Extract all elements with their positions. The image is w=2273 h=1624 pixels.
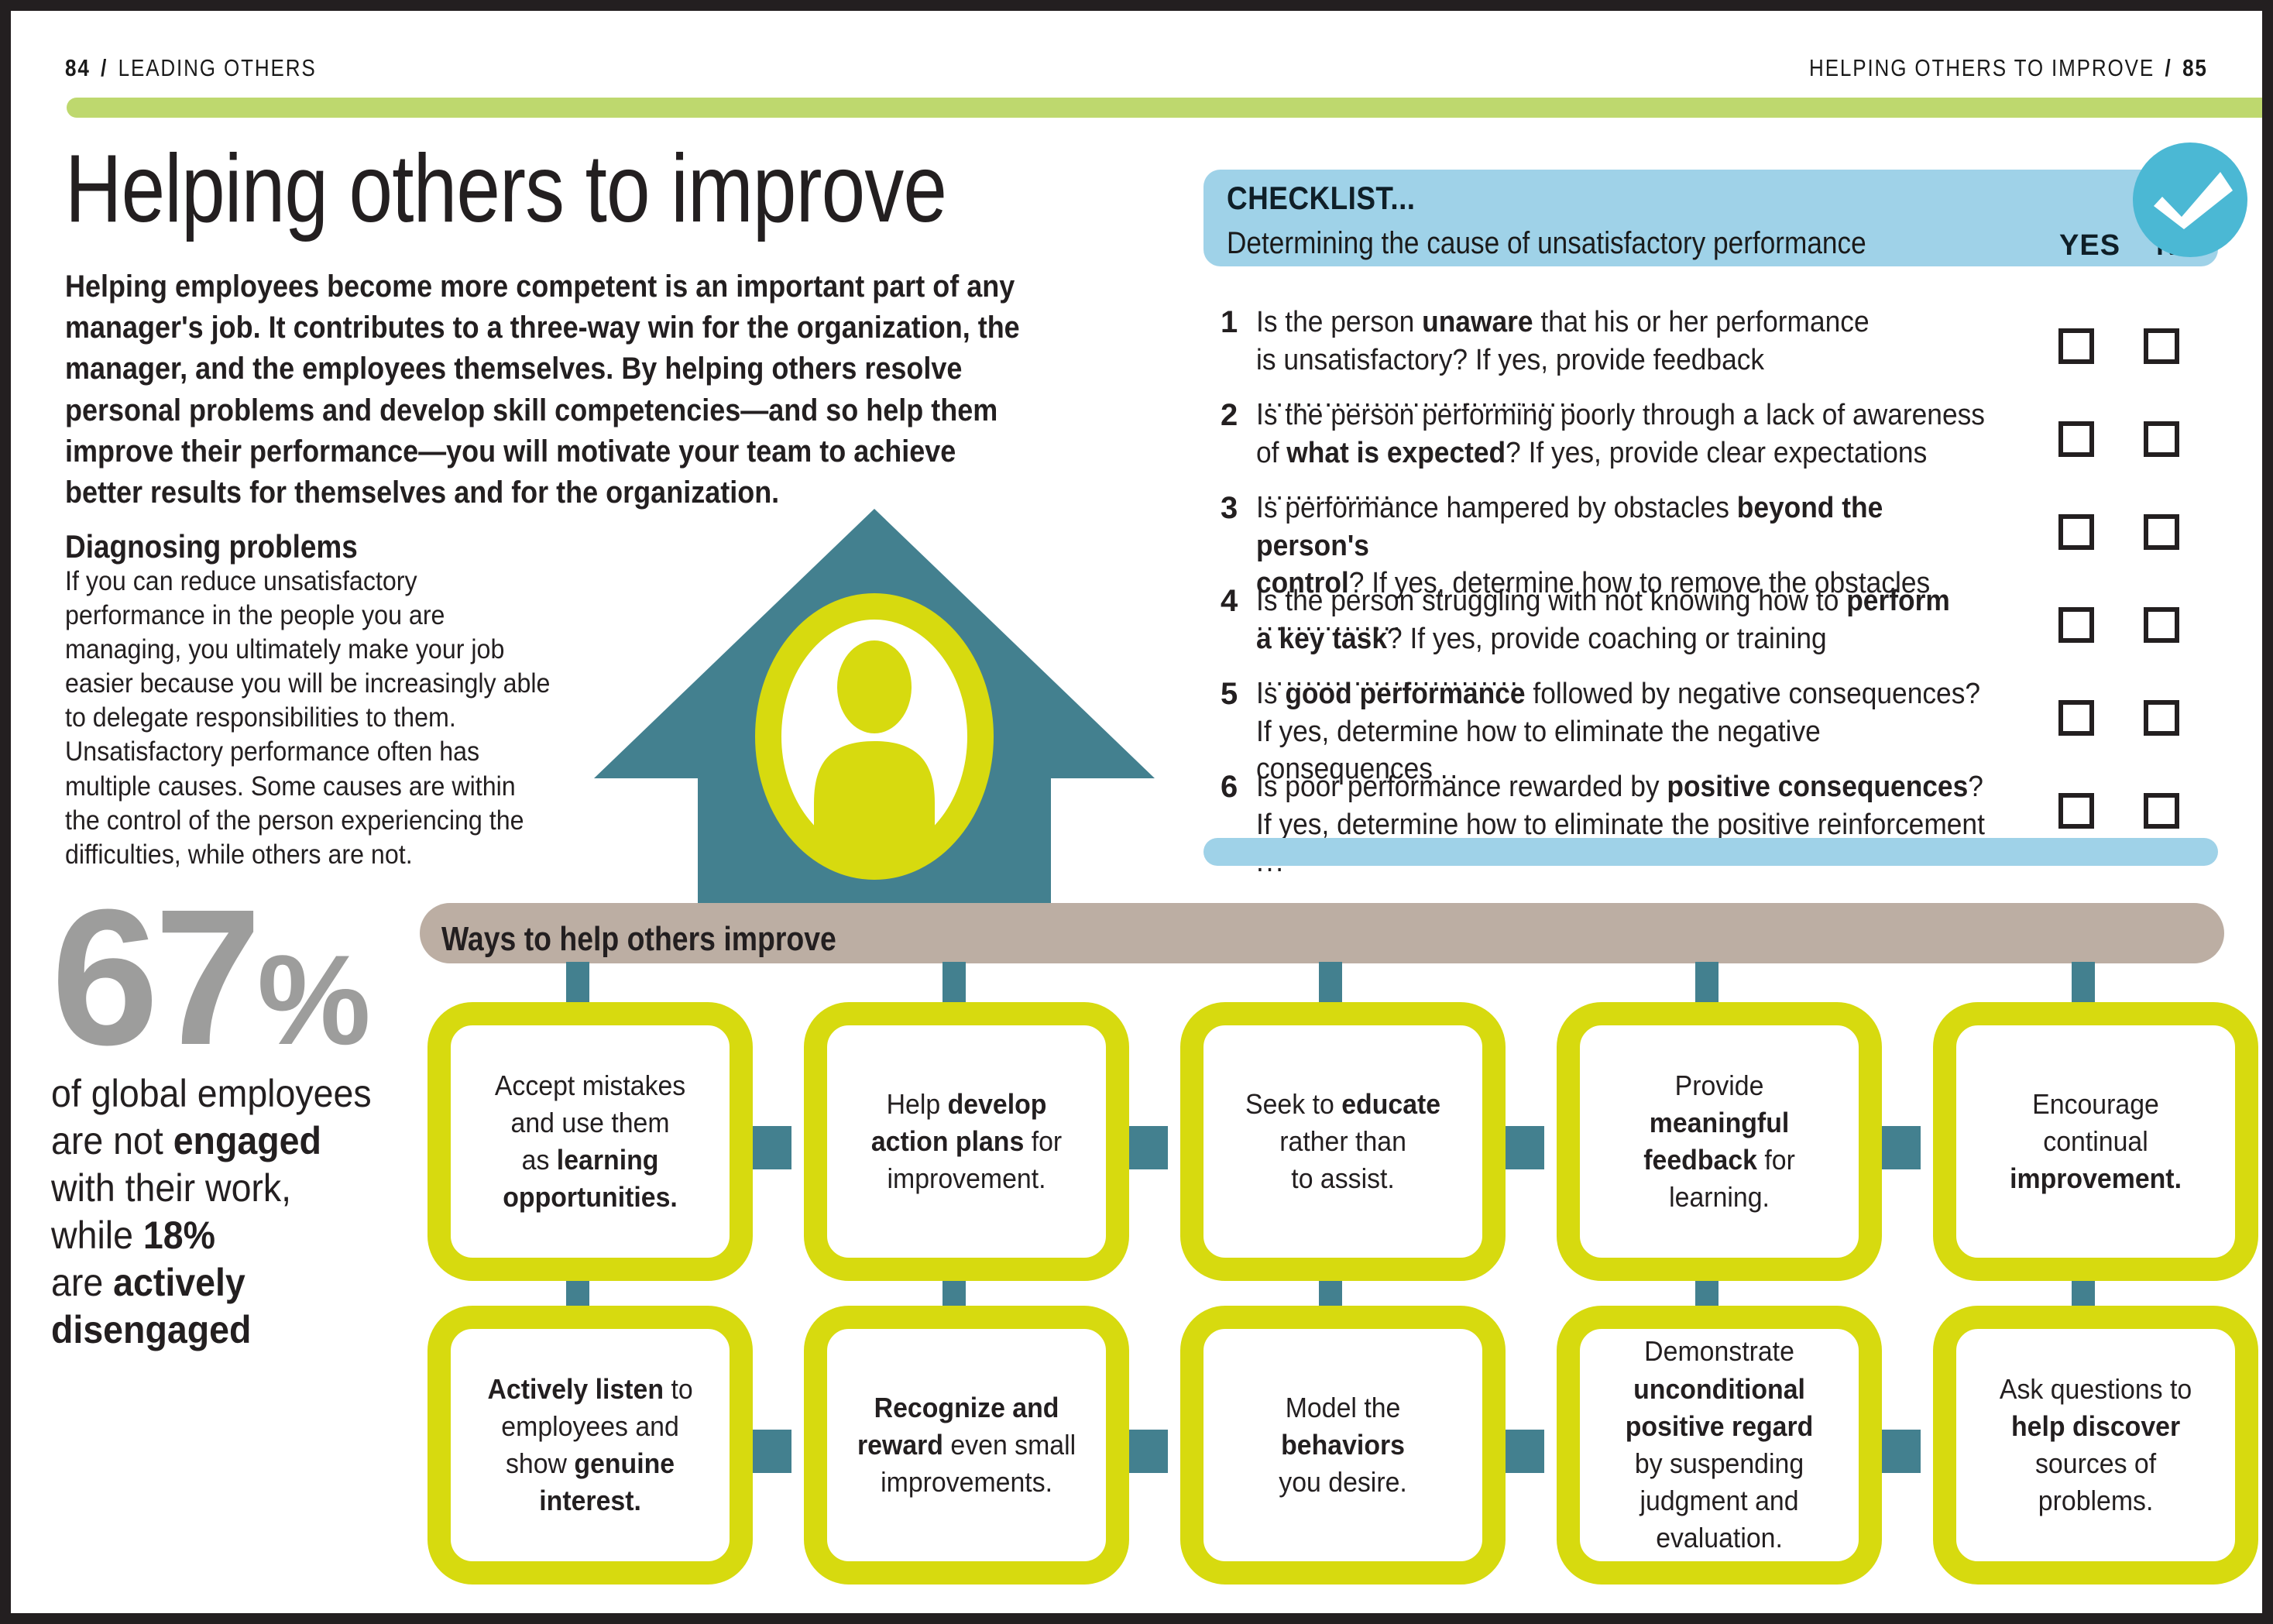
c5-cb: improvement. <box>2010 1162 2182 1194</box>
c2-bb: action plans <box>871 1125 1024 1157</box>
statistic-block: 67% of global employees are not engaged … <box>51 898 454 1354</box>
way-card-text: Help develop action plans for improvemen… <box>871 1086 1062 1198</box>
checkbox-yes[interactable] <box>2058 421 2094 457</box>
c7-bb: reward <box>857 1429 943 1461</box>
c2-ab: develop <box>948 1088 1047 1120</box>
c8-bb: behaviors <box>1281 1429 1405 1461</box>
running-head-left: 84/LEADING OTHERS <box>65 54 317 82</box>
connector-bar-to-card-4 <box>1695 962 1718 1008</box>
checklist-item-number: 2 <box>1221 398 1252 433</box>
c3-b: rather than <box>1279 1125 1406 1157</box>
stat-line-2a: are not <box>51 1119 173 1162</box>
slash-right: / <box>2155 54 2182 81</box>
c3-c: to assist. <box>1291 1162 1395 1194</box>
c6-ac: to <box>664 1373 693 1405</box>
chapter-title-right: HELPING OTHERS TO IMPROVE <box>1809 54 2155 81</box>
c6-b: employees and <box>501 1410 679 1442</box>
upward-arrow-person-illustration <box>588 503 1161 909</box>
checkbox-no[interactable] <box>2144 700 2179 736</box>
checkbox-no[interactable] <box>2144 421 2179 457</box>
c1-db: opportunities. <box>503 1181 678 1213</box>
connector-bar-to-card-2 <box>943 962 966 1008</box>
checklist-item-number: 3 <box>1221 491 1252 526</box>
way-card[interactable]: Seek to educate rather than to assist. <box>1180 1002 1506 1281</box>
cl-2-l1a: Is the person performing poorly through … <box>1256 399 1985 431</box>
folio-left: 84 <box>65 54 91 81</box>
connector-bar-to-card-1 <box>566 962 589 1008</box>
checklist-footer-bar <box>1203 838 2218 866</box>
cl-3-l1a: Is performance hampered by obstacles <box>1256 492 1737 524</box>
c4-cb: feedback <box>1643 1144 1757 1176</box>
checklist-item: 2 Is the person performing poorly throug… <box>1221 397 2227 489</box>
cl-5-l1a: Is <box>1256 678 1285 710</box>
page-title: Helping others to improve <box>65 141 946 237</box>
c9-a: Demonstrate <box>1644 1335 1794 1367</box>
c9-e: judgment and <box>1640 1485 1798 1516</box>
way-card[interactable]: Accept mistakes and use them as learning… <box>427 1002 753 1281</box>
stat-line-4a: while <box>51 1214 143 1257</box>
checklist-title: CHECKLIST... <box>1227 180 1415 217</box>
c5-b: continual <box>2043 1125 2148 1157</box>
way-card-text: Ask questions to help discover sources o… <box>2000 1371 2192 1520</box>
checklist-item-number: 1 <box>1221 305 1252 340</box>
way-card-text: Model the behaviors you desire. <box>1279 1389 1407 1502</box>
statistic-figure: 67% <box>51 898 454 1056</box>
c4-a: Provide <box>1675 1070 1764 1101</box>
checklist-item: 5 Is good performance followed by negati… <box>1221 675 2227 768</box>
c1-c: as <box>522 1144 557 1176</box>
statistic-percent-sign: % <box>257 929 371 1071</box>
statistic-number: 67 <box>51 869 257 1085</box>
c7-c: improvements. <box>881 1466 1052 1498</box>
chapter-title-left: LEADING OTHERS <box>118 54 317 81</box>
checklist-subtitle: Determining the cause of unsatisfactory … <box>1227 226 1866 261</box>
c10-d: problems. <box>2038 1485 2154 1516</box>
c6-cb: genuine <box>574 1447 675 1479</box>
stat-line-2b: engaged <box>173 1119 321 1162</box>
cl-2-l2c: ? If yes, provide clear expectations <box>1506 437 1927 469</box>
c9-d: by suspending <box>1635 1447 1804 1479</box>
c4-bb: meaningful <box>1650 1107 1789 1138</box>
c2-bc: for <box>1024 1125 1062 1157</box>
way-card[interactable]: Recognize and reward even small improvem… <box>804 1306 1129 1585</box>
c3-ab: educate <box>1341 1088 1440 1120</box>
c3-a: Seek to <box>1245 1088 1341 1120</box>
checkbox-no[interactable] <box>2144 328 2179 364</box>
stat-line-3: with their work, <box>51 1166 291 1210</box>
checkbox-yes[interactable] <box>2058 793 2094 829</box>
checkbox-yes[interactable] <box>2058 700 2094 736</box>
checklist-item-number: 4 <box>1221 584 1252 619</box>
c6-ab: Actively listen <box>487 1373 664 1405</box>
cl-1-l1b: unaware <box>1422 306 1533 338</box>
checklist-item-number: 6 <box>1221 770 1252 805</box>
c4-cc: for <box>1757 1144 1795 1176</box>
connector-bar-to-card-5 <box>2072 962 2095 1008</box>
stat-line-6: disengaged <box>51 1308 251 1351</box>
checkbox-no[interactable] <box>2144 607 2179 643</box>
way-card-text: Seek to educate rather than to assist. <box>1245 1086 1440 1198</box>
way-card[interactable]: Demonstrate unconditional positive regar… <box>1557 1306 1882 1585</box>
c10-bb: help discover <box>2011 1410 2180 1442</box>
checklist-item: 3 Is performance hampered by obstacles b… <box>1221 489 2227 582</box>
ways-bar-label: Ways to help others improve <box>441 920 836 959</box>
intro-paragraph: Helping employees become more competent … <box>65 266 1027 513</box>
checklist-items: 1 Is the person unaware that his or her … <box>1221 304 2227 861</box>
way-card[interactable]: Actively listen to employees and show ge… <box>427 1306 753 1585</box>
green-rule-divider <box>67 98 2262 118</box>
cl-5-l1c: followed by negative consequences? <box>1526 678 1980 710</box>
checklist-item: 4 Is the person struggling with not know… <box>1221 582 2227 675</box>
way-card-text: Encourage continual improvement. <box>2010 1086 2182 1198</box>
cl-4-l2b: a key task <box>1256 623 1387 655</box>
c9-f: evaluation. <box>1656 1522 1783 1554</box>
statistic-caption: of global employees are not engaged with… <box>51 1070 426 1354</box>
way-card[interactable]: Encourage continual improvement. <box>1933 1002 2258 1281</box>
slash-left: / <box>91 54 118 81</box>
c9-bb: unconditional <box>1633 1373 1805 1405</box>
stat-line-5a: are <box>51 1261 113 1304</box>
checkbox-yes[interactable] <box>2058 514 2094 550</box>
checklist-item: 1 Is the person unaware that his or her … <box>1221 304 2227 397</box>
c10-c: sources of <box>2035 1447 2156 1479</box>
cl-1-l2a: is unsatisfactory? If yes, provide feedb… <box>1256 344 1764 376</box>
way-card[interactable]: Ask questions to help discover sources o… <box>1933 1306 2258 1585</box>
folio-right: 85 <box>2182 54 2208 81</box>
stat-line-5b: actively <box>113 1261 245 1304</box>
cl-6-l1a: Is poor performance rewarded by <box>1256 771 1667 803</box>
c1-b: and use them <box>510 1107 669 1138</box>
way-card[interactable]: Model the behaviors you desire. <box>1180 1306 1506 1585</box>
checklist-item-number: 5 <box>1221 677 1252 712</box>
diagnosing-problems-heading: Diagnosing problems <box>65 528 358 565</box>
stat-line-1: of global employees <box>51 1072 372 1115</box>
c8-a: Model the <box>1286 1392 1401 1423</box>
c1-cb: learning <box>557 1144 659 1176</box>
book-page-spread: 84/LEADING OTHERS HELPING OTHERS TO IMPR… <box>0 0 2273 1624</box>
c8-c: you desire. <box>1279 1466 1407 1498</box>
check-icon <box>2133 142 2247 257</box>
c10-a: Ask questions to <box>2000 1373 2192 1405</box>
cl-4-l2c: ? If yes, provide coaching or training <box>1387 623 1827 655</box>
cl-6-l1c: ? <box>1968 771 1983 803</box>
cl-1-l1a: Is the person <box>1256 306 1422 338</box>
cl-1-l1c: that his or her performance <box>1533 306 1870 338</box>
c7-ab: Recognize and <box>874 1392 1059 1423</box>
checkbox-yes[interactable] <box>2058 328 2094 364</box>
diagnosing-problems-body: If you can reduce unsatisfactory perform… <box>65 565 557 872</box>
checkbox-no[interactable] <box>2144 514 2179 550</box>
stat-line-4b: 18% <box>143 1214 215 1257</box>
checkbox-yes[interactable] <box>2058 607 2094 643</box>
c6-c: show <box>506 1447 574 1479</box>
c5-a: Encourage <box>2032 1088 2159 1120</box>
cl-6-l1b: positive consequences <box>1667 771 1968 803</box>
way-card[interactable]: Help develop action plans for improvemen… <box>804 1002 1129 1281</box>
cl-2-l2b: what is expected <box>1286 437 1506 469</box>
way-card-text: Recognize and reward even small improvem… <box>857 1389 1076 1502</box>
cl-4-l1a: Is the person struggling with not knowin… <box>1256 585 1846 617</box>
c1-a: Accept mistakes <box>495 1070 685 1101</box>
checkbox-no[interactable] <box>2144 793 2179 829</box>
way-card-text: Demonstrate unconditional positive regar… <box>1626 1333 1814 1557</box>
cl-2-l2a: of <box>1256 437 1286 469</box>
c6-db: interest. <box>539 1485 641 1516</box>
c2-a: Help <box>887 1088 948 1120</box>
arrow-icon <box>588 503 1161 909</box>
way-card-text: Provide meaningful feedback for learning… <box>1643 1067 1795 1217</box>
cl-6-l2a: If yes, determine how to eliminate the p… <box>1256 809 1985 841</box>
checkmark-badge-icon <box>2133 142 2247 257</box>
way-card-text: Actively listen to employees and show ge… <box>487 1371 692 1520</box>
connector-bar-to-card-3 <box>1319 962 1342 1008</box>
cl-5-l1b: good performance <box>1285 678 1525 710</box>
c4-d: learning. <box>1669 1181 1770 1213</box>
c2-c: improvement. <box>887 1162 1046 1194</box>
way-card[interactable]: Provide meaningful feedback for learning… <box>1557 1002 1882 1281</box>
cl-4-l1b: perform <box>1846 585 1950 617</box>
running-head-right: HELPING OTHERS TO IMPROVE/85 <box>1809 54 2208 82</box>
c7-bc: even small <box>943 1429 1076 1461</box>
way-card-text: Accept mistakes and use them as learning… <box>495 1067 685 1217</box>
checklist-yes-column-header: YES <box>2059 229 2120 263</box>
c9-cb: positive regard <box>1626 1410 1814 1442</box>
